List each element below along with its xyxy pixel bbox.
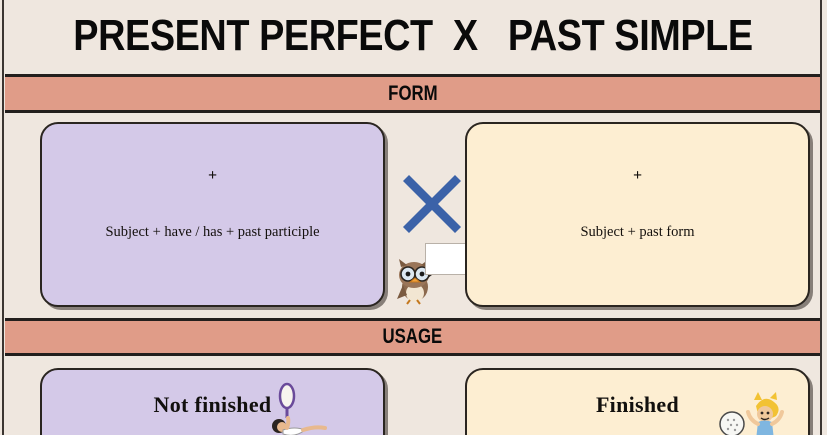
affirmative-symbol: +: [473, 167, 802, 186]
present-perfect-usage-card: Not finished: [40, 368, 385, 435]
spacer: [48, 279, 377, 285]
owl-teacher-group: [395, 241, 467, 305]
whiteboard-icon: [425, 243, 469, 275]
section-header-form: FORM: [5, 74, 820, 113]
section-header-form-label: FORM: [388, 82, 437, 106]
past-simple-form-card: + Subject + past form - Subject + didn’t…: [465, 122, 810, 307]
tennis-player-icon: [257, 380, 335, 435]
x-mark-icon: [403, 175, 461, 233]
past-simple-usage-card: Finished: [465, 368, 810, 435]
page-title: PRESENT PERFECT X PAST SIMPLE: [73, 14, 752, 58]
poster-title-bar: PRESENT PERFECT X PAST SIMPLE: [5, 0, 820, 72]
spacer: [473, 279, 802, 285]
page-border-right: [820, 0, 822, 435]
affirmative-symbol: +: [48, 167, 377, 186]
section-header-usage: USAGE: [5, 318, 820, 356]
present-perfect-form-card: + Subject + have / has + past participle…: [40, 122, 385, 307]
form-content-row: + Subject + have / has + past participle…: [5, 113, 820, 318]
page-border-left: [2, 0, 4, 435]
affirmative-line: Subject + have / has + past participle: [48, 223, 377, 242]
affirmative-line: Subject + past form: [473, 223, 802, 242]
golf-celebration-icon: [716, 380, 794, 435]
usage-content-row: Not finished Finished: [5, 356, 820, 435]
section-header-usage-label: USAGE: [383, 325, 443, 349]
grammar-poster: PRESENT PERFECT X PAST SIMPLE FORM + Sub…: [0, 0, 827, 435]
